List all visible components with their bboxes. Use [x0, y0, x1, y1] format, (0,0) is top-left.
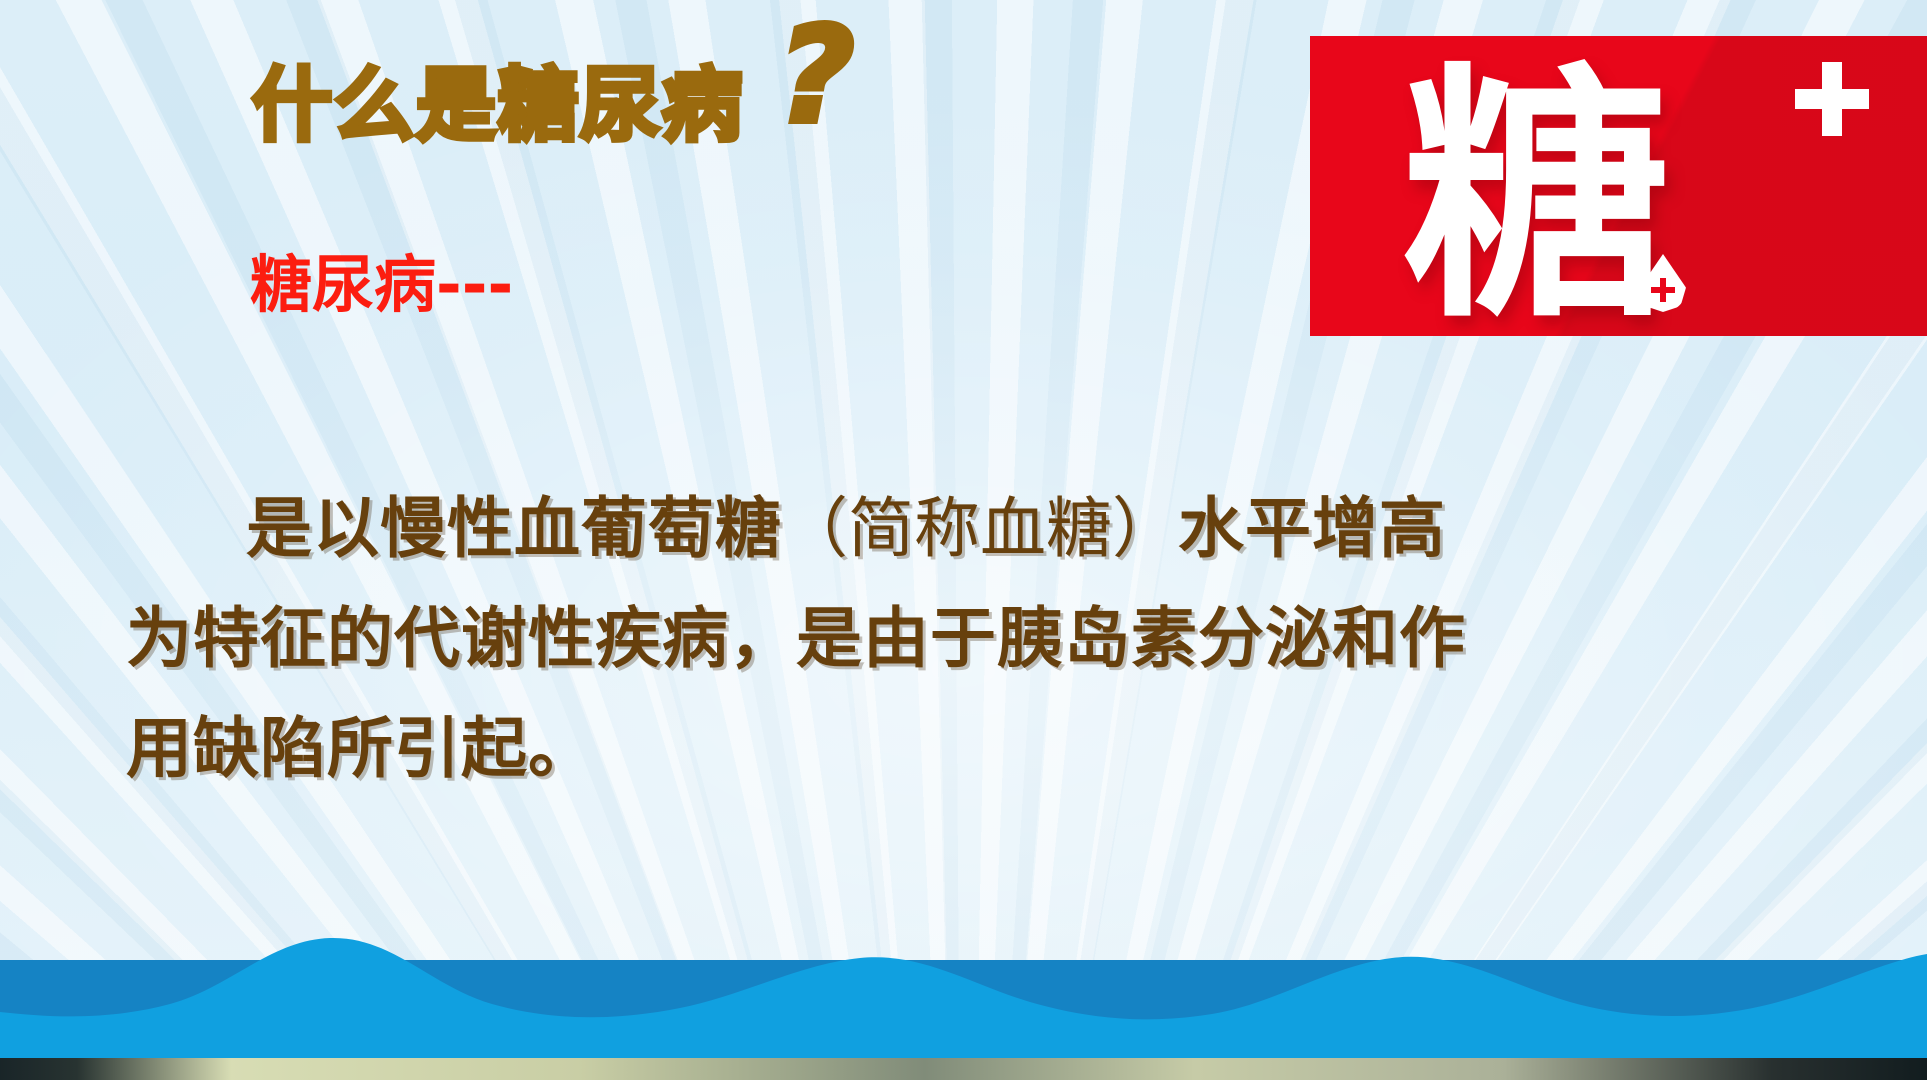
slide-root: 什么是糖尿病 ? 糖尿病--- 糖 是以慢性血葡萄糖（简称血糖）水平增高为特征的… [0, 0, 1927, 1080]
subtitle-term: 糖尿病--- [250, 252, 513, 317]
body-line1-part-b: （简称血糖） [782, 490, 1178, 567]
body-line3: 用缺陷所引起。 [126, 710, 595, 787]
page-title: 什么是糖尿病 [252, 66, 744, 146]
plus-icon [1795, 62, 1869, 136]
bottom-filmstrip [0, 1058, 1927, 1080]
question-mark-icon: ? [778, 20, 855, 132]
body-line1-part-a: 是以慢性血葡萄糖 [246, 490, 782, 567]
slide-title: 什么是糖尿病 ? [252, 66, 855, 146]
brand-logo: 糖 [1310, 36, 1927, 336]
logo-glyph-tang: 糖 [1402, 64, 1670, 332]
body-paragraph: 是以慢性血葡萄糖（简称血糖）水平增高为特征的代谢性疾病，是由于胰岛素分泌和作用缺… [126, 474, 1866, 804]
bottom-wave-decoration [0, 900, 1927, 1080]
blood-drop-icon [1640, 254, 1686, 312]
body-line2: 为特征的代谢性疾病，是由于胰岛素分泌和作 [126, 600, 1466, 677]
body-line1-part-c: 水平增高 [1178, 490, 1446, 567]
